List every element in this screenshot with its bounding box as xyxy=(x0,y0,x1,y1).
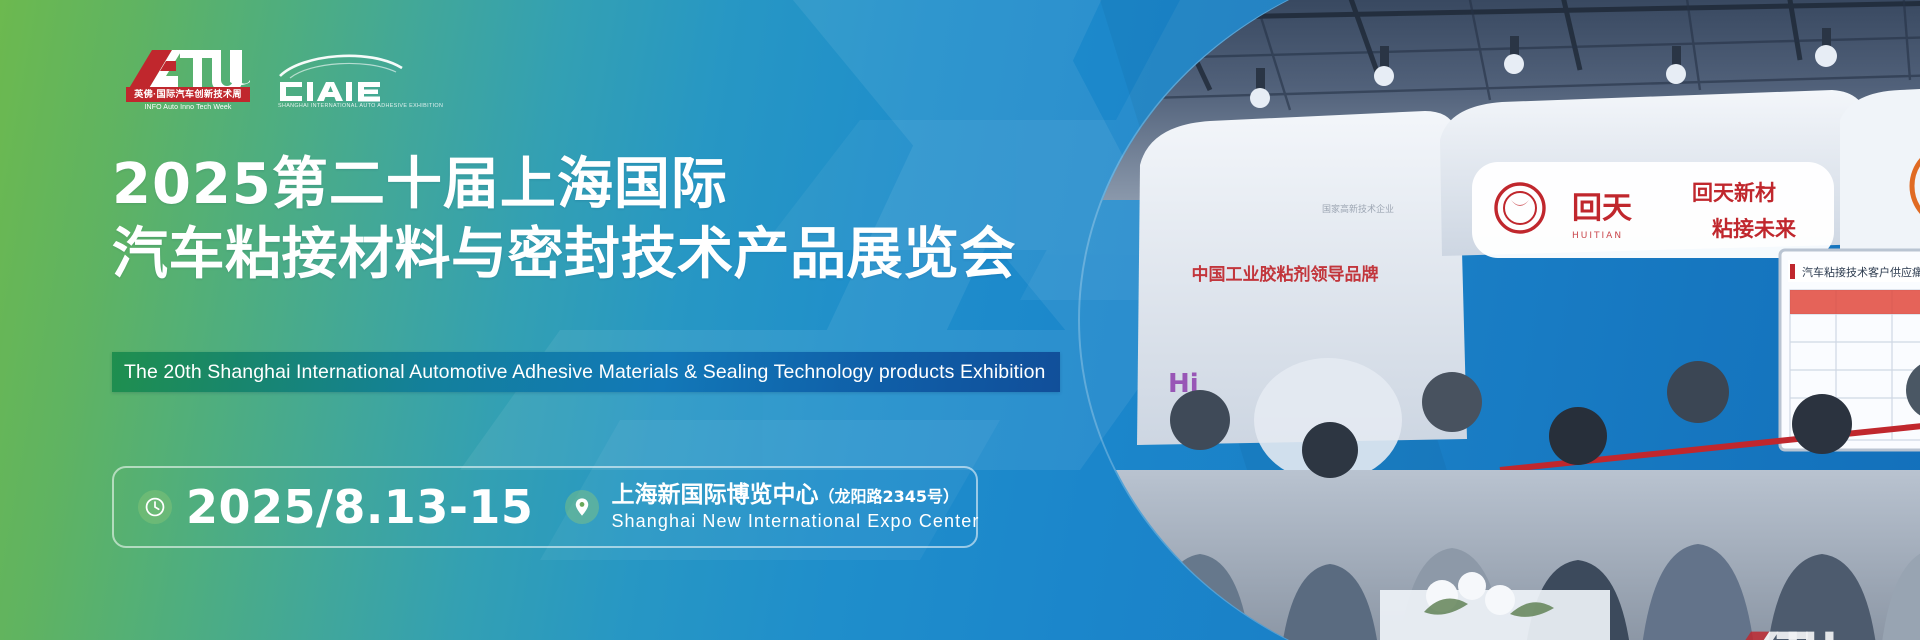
venue-address-cn: （龙阳路2345号） xyxy=(818,487,959,506)
booth-photo: 中国工业胶粘剂领导品牌 国家高新技术企业 Hi 回天 HUITIAN 回天新材 … xyxy=(1080,0,1920,640)
svg-text:HUITIAN: HUITIAN xyxy=(1572,231,1623,241)
date-value: 2025/8.13-15 xyxy=(186,484,533,530)
svg-text:回天新材: 回天新材 xyxy=(1692,181,1776,205)
date-item: 2025/8.13-15 xyxy=(114,484,533,530)
ciaie-logo[interactable]: SHANGHAI INTERNATIONAL AUTO ADHESIVE EXH… xyxy=(274,50,410,112)
photo-circle-mask: 中国工业胶粘剂领导品牌 国家高新技术企业 Hi 回天 HUITIAN 回天新材 … xyxy=(1080,0,1920,640)
watermark-atw-icon xyxy=(1724,628,1844,640)
location-pin-icon xyxy=(565,490,599,524)
venue-name-cn: 上海新国际博览中心 xyxy=(611,482,818,508)
venue-name-en: Shanghai New International Expo Center xyxy=(611,510,979,532)
atw-logo[interactable]: 英佛·国际汽车创新技术周 INFO Auto Inno Tech Week xyxy=(126,46,250,112)
title-line-1: 2025第二十届上海国际 xyxy=(112,150,1016,220)
svg-text:回天: 回天 xyxy=(1572,191,1632,226)
title-block: 2025第二十届上海国际 汽车粘接材料与密封技术产品展览会 xyxy=(112,150,1016,290)
photo-area: 中国工业胶粘剂领导品牌 国家高新技术企业 Hi 回天 HUITIAN 回天新材 … xyxy=(1040,0,1920,640)
venue-item: 上海新国际博览中心（龙阳路2345号） Shanghai New Interna… xyxy=(533,482,979,532)
atw-english-strip: INFO Auto Inno Tech Week xyxy=(126,103,250,113)
logo-row: 英佛·国际汽车创新技术周 INFO Auto Inno Tech Week SH… xyxy=(126,46,410,112)
ciaie-wordmark-icon xyxy=(274,50,410,106)
title-line-2: 汽车粘接材料与密封技术产品展览会 xyxy=(112,220,1016,290)
subtitle-band: The 20th Shanghai International Automoti… xyxy=(112,352,1060,392)
svg-text:国家高新技术企业: 国家高新技术企业 xyxy=(1322,203,1394,215)
svg-text:中国工业胶粘剂领导品牌: 中国工业胶粘剂领导品牌 xyxy=(1192,264,1379,285)
atw-chinese-strip: 英佛·国际汽车创新技术周 xyxy=(126,87,250,102)
venue-name-cn-row: 上海新国际博览中心（龙阳路2345号） xyxy=(611,482,979,510)
clock-icon xyxy=(138,490,172,524)
watermark-atw-logo: 英佛·国际汽车创新技术周 INFO Auto Inno Tech Week xyxy=(1724,628,1844,640)
photo-watermark-logos: 英佛·国际汽车创新技术周 INFO Auto Inno Tech Week xyxy=(1724,628,1920,640)
subtitle-english: The 20th Shanghai International Automoti… xyxy=(124,361,1046,384)
ciaie-subtitle: SHANGHAI INTERNATIONAL AUTO ADHESIVE EXH… xyxy=(278,102,410,110)
exhibition-banner: 英佛·国际汽车创新技术周 INFO Auto Inno Tech Week SH… xyxy=(0,0,1920,640)
svg-text:粘接未来: 粘接未来 xyxy=(1712,217,1797,241)
svg-text:汽车粘接技术客户供应痛点: 汽车粘接技术客户供应痛点 xyxy=(1802,265,1920,279)
info-box: 2025/8.13-15 上海新国际博览中心（龙阳路2345号） Shangha… xyxy=(112,466,978,548)
venue-text: 上海新国际博览中心（龙阳路2345号） Shanghai New Interna… xyxy=(611,482,979,532)
